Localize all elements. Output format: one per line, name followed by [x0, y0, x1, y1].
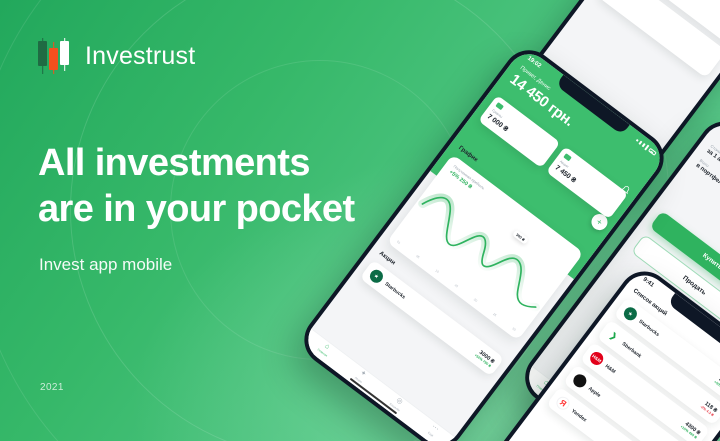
tab-bar: ⌂Главная ✦Акции ◎Кошелёк ⋯Ещё [300, 328, 456, 441]
apple-logo-icon [571, 372, 589, 390]
wallet-icon [495, 102, 504, 110]
starbucks-logo-icon: ★ [621, 305, 639, 323]
device-mockups: Кошелёк ⌂Главная ✦Акции ◎Кошелёк ⋯Ещё [0, 0, 720, 441]
tab-home[interactable]: ⌂Главная [317, 341, 334, 358]
tab-more[interactable]: ⋯Ещё [427, 424, 440, 438]
axis-tick: 01 [396, 240, 401, 245]
stock-delta: +50% 790 ₴ [713, 379, 720, 394]
axis-tick: 25 [492, 312, 497, 317]
stock-values: 3000 ₴ +50% 790 ₴ [713, 375, 720, 395]
axis-tick: 15 [454, 283, 459, 288]
signal-bar [636, 139, 639, 142]
stock-values: 3000 ₴ +50% 790 ₴ [474, 348, 496, 368]
axis-tick: 30 [511, 326, 516, 331]
wallet-icon [563, 153, 572, 161]
sberbank-logo-icon: ❯ [604, 327, 622, 345]
stock-values: 118 ₴ -2% 4.3 ₴ [700, 399, 719, 416]
axis-tick: 05 [415, 254, 420, 259]
status-time: 9:41 [642, 277, 655, 289]
axis-tick: 10 [434, 269, 439, 274]
battery-icon [648, 148, 657, 156]
info-price-per-share: Стоимость за 1 акцию [705, 143, 720, 238]
axis-tick: 20 [473, 298, 478, 303]
hm-logo-icon: H&M [588, 349, 606, 367]
poster-canvas: Investrust All investments are in your p… [0, 0, 720, 441]
starbucks-logo-icon: ★ [367, 267, 385, 285]
yandex-logo-icon: Я [554, 394, 572, 412]
stock-values: 4300 ₴ +15% 450 ₴ [680, 419, 702, 439]
home-icon: ⌂ [323, 343, 331, 351]
